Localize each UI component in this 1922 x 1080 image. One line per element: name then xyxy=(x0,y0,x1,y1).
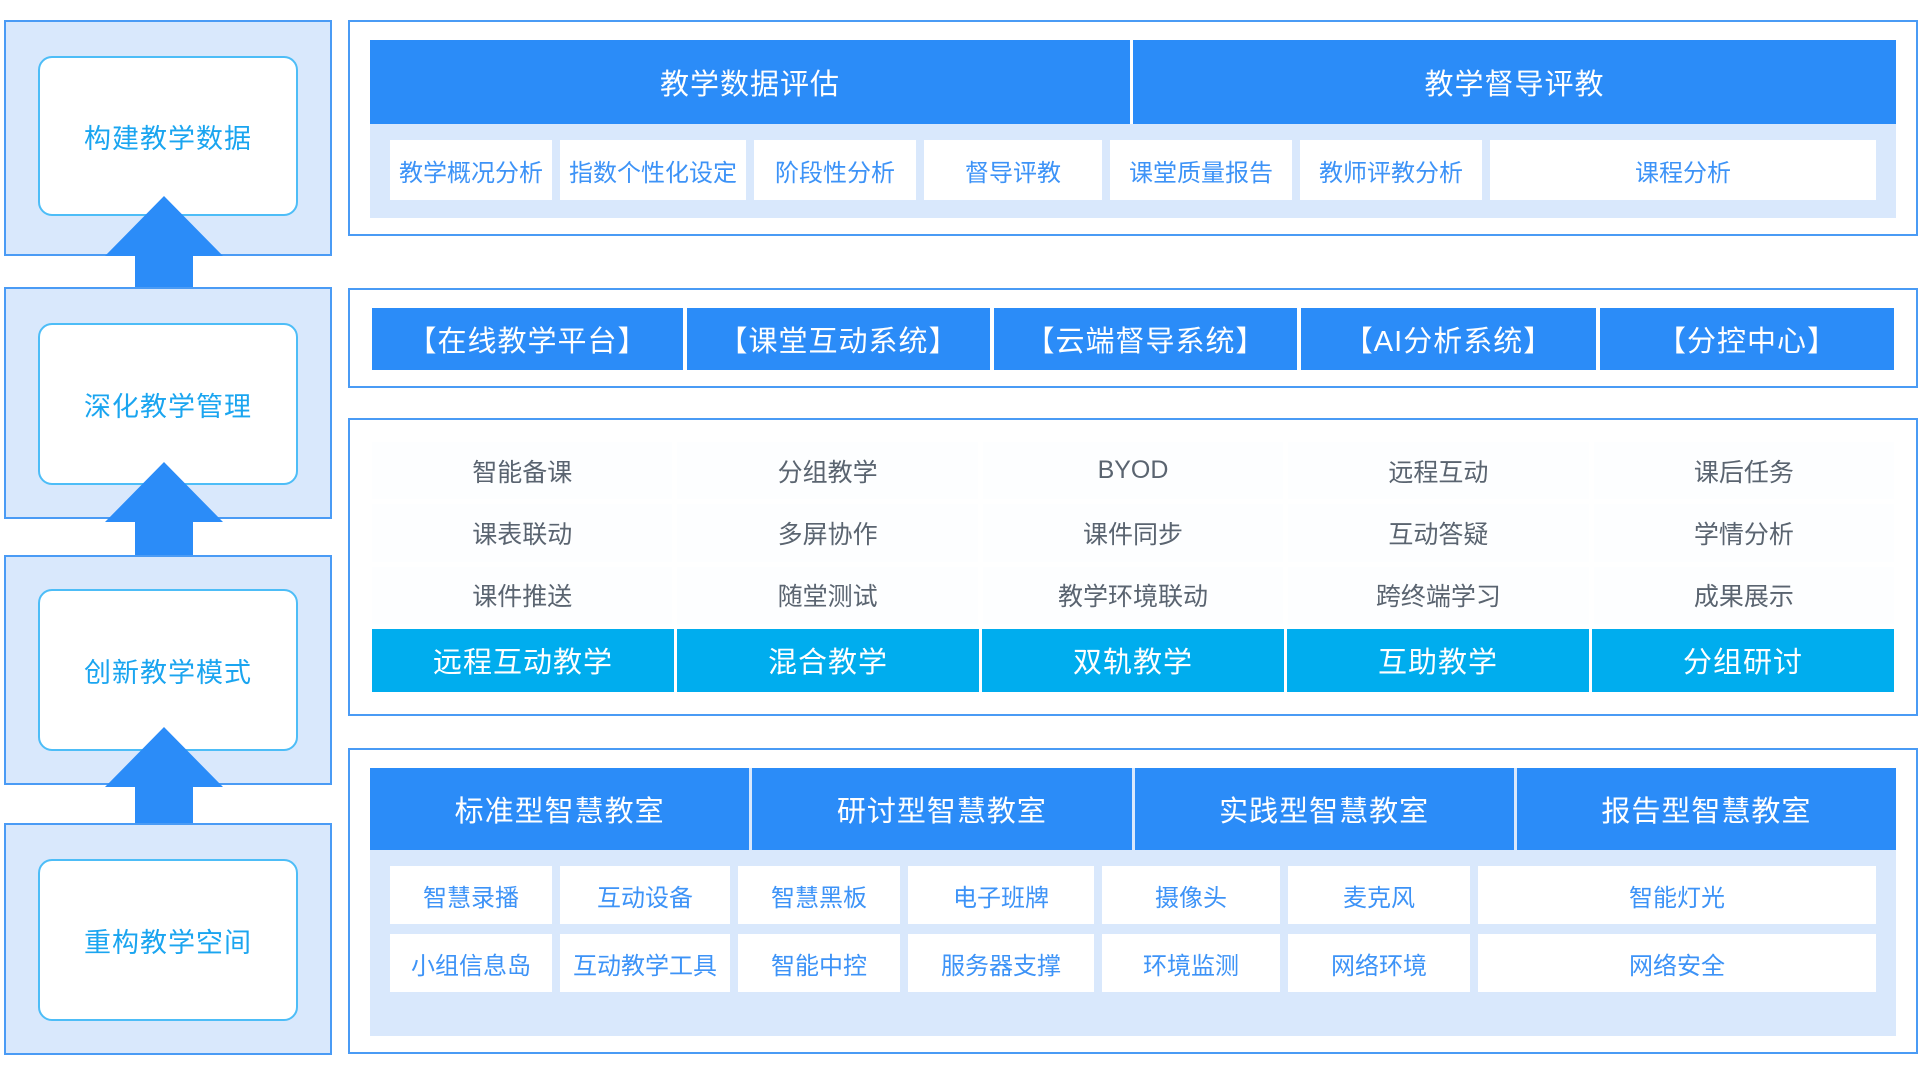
teaching-modes-grid: 智能备课 分组教学 BYOD 远程互动 课后任务 课表联动 多屏协作 课件同步 … xyxy=(372,442,1894,692)
equipment-cell[interactable]: 环境监测 xyxy=(1102,934,1280,992)
panel-inner-smart-classrooms: 标准型智慧教室 研讨型智慧教室 实践型智慧教室 报告型智慧教室 智慧录播 互动设… xyxy=(370,768,1896,1036)
mode-cell[interactable]: 课后任务 xyxy=(1594,442,1894,499)
mode-cell[interactable]: 远程互动 xyxy=(1288,442,1588,499)
system-control-center[interactable]: 【分控中心】 xyxy=(1600,308,1894,370)
cell-gap xyxy=(1280,934,1288,992)
mode-cell[interactable]: 学情分析 xyxy=(1594,504,1894,561)
equipment-cell[interactable]: 智慧录播 xyxy=(390,866,552,924)
cell-gap xyxy=(552,866,560,924)
system-online-teaching-platform[interactable]: 【在线教学平台】 xyxy=(372,308,683,370)
mode-cell[interactable]: BYOD xyxy=(983,442,1283,499)
cell-gap xyxy=(1292,140,1300,200)
data-evaluation-header-row: 教学数据评估 教学督导评教 xyxy=(370,40,1896,124)
cell-gap xyxy=(900,866,908,924)
mode-cell[interactable]: 互动答疑 xyxy=(1288,504,1588,561)
panel-systems: 【在线教学平台】 【课堂互动系统】 【云端督导系统】 【AI分析系统】 【分控中… xyxy=(348,288,1918,388)
mode-cell[interactable]: 课件推送 xyxy=(372,567,672,624)
panel-teaching-modes: 智能备课 分组教学 BYOD 远程互动 课后任务 课表联动 多屏协作 课件同步 … xyxy=(348,418,1918,716)
table-row: 课表联动 多屏协作 课件同步 互动答疑 学情分析 xyxy=(372,504,1894,561)
cell-gap xyxy=(730,934,738,992)
mode-cell[interactable]: 教学环境联动 xyxy=(983,567,1283,624)
equipment-cell[interactable]: 服务器支撑 xyxy=(908,934,1094,992)
table-row: 智能备课 分组教学 BYOD 远程互动 课后任务 xyxy=(372,442,1894,499)
equipment-cell[interactable]: 智慧黑板 xyxy=(738,866,900,924)
mode-highlight-cell[interactable]: 双轨教学 xyxy=(982,629,1284,692)
item-supervision-teaching[interactable]: 督导评教 xyxy=(924,140,1102,200)
item-teacher-eval-analysis[interactable]: 教师评教分析 xyxy=(1300,140,1482,200)
system-cloud-supervision[interactable]: 【云端督导系统】 xyxy=(994,308,1297,370)
mode-cell[interactable]: 课件同步 xyxy=(983,504,1283,561)
stage-box-2[interactable]: 深化教学管理 xyxy=(38,323,298,485)
mode-cell[interactable]: 智能备课 xyxy=(372,442,672,499)
header-data-evaluation[interactable]: 教学数据评估 xyxy=(370,40,1130,124)
equipment-cell[interactable]: 小组信息岛 xyxy=(390,934,552,992)
mode-cell[interactable]: 跨终端学习 xyxy=(1288,567,1588,624)
cell-gap xyxy=(1094,934,1102,992)
mode-cell[interactable]: 成果展示 xyxy=(1594,567,1894,624)
cell-gap xyxy=(1470,866,1478,924)
cell-gap xyxy=(900,934,908,992)
panel-data-evaluation: 教学数据评估 教学督导评教 教学概况分析 指数个性化设定 阶段性分析 督导评教 … xyxy=(348,20,1918,236)
classroom-equipment-row-1: 智慧录播 互动设备 智慧黑板 电子班牌 摄像头 麦克风 智能灯光 xyxy=(370,866,1896,924)
item-phase-analysis[interactable]: 阶段性分析 xyxy=(754,140,916,200)
item-teaching-overview[interactable]: 教学概况分析 xyxy=(390,140,552,200)
mode-highlight-cell[interactable]: 混合教学 xyxy=(677,629,979,692)
equipment-cell[interactable]: 互动教学工具 xyxy=(560,934,730,992)
classroom-lecture[interactable]: 报告型智慧教室 xyxy=(1517,768,1896,850)
cell-gap xyxy=(730,866,738,924)
panel-smart-classrooms: 标准型智慧教室 研讨型智慧教室 实践型智慧教室 报告型智慧教室 智慧录播 互动设… xyxy=(348,748,1918,1054)
mode-highlight-cell[interactable]: 分组研讨 xyxy=(1592,629,1894,692)
cell-gap xyxy=(1102,140,1110,200)
equipment-cell[interactable]: 智能中控 xyxy=(738,934,900,992)
systems-bar: 【在线教学平台】 【课堂互动系统】 【云端督导系统】 【AI分析系统】 【分控中… xyxy=(372,308,1894,370)
classroom-equipment-row-2: 小组信息岛 互动教学工具 智能中控 服务器支撑 环境监测 网络环境 网络安全 xyxy=(370,934,1896,992)
equipment-cell[interactable]: 智能灯光 xyxy=(1478,866,1876,924)
cell-gap xyxy=(552,140,560,200)
table-row: 课件推送 随堂测试 教学环境联动 跨终端学习 成果展示 xyxy=(372,567,1894,624)
diagram-root: 构建教学数据 深化教学管理 创新教学模式 重构教学空间 教学数据评估 xyxy=(0,0,1922,1080)
stage-panel-4: 重构教学空间 xyxy=(4,823,332,1055)
mode-highlight-cell[interactable]: 互助教学 xyxy=(1287,629,1589,692)
cell-gap xyxy=(1280,866,1288,924)
mode-highlight-cell[interactable]: 远程互动教学 xyxy=(372,629,674,692)
classroom-seminar[interactable]: 研讨型智慧教室 xyxy=(752,768,1131,850)
content-column: 教学数据评估 教学督导评教 教学概况分析 指数个性化设定 阶段性分析 督导评教 … xyxy=(348,0,1922,1080)
mode-cell[interactable]: 分组教学 xyxy=(677,442,977,499)
equipment-cell[interactable]: 摄像头 xyxy=(1102,866,1280,924)
header-supervision-evaluation[interactable]: 教学督导评教 xyxy=(1133,40,1896,124)
cell-gap xyxy=(552,934,560,992)
stage-box-1[interactable]: 构建教学数据 xyxy=(38,56,298,216)
cell-gap xyxy=(1482,140,1490,200)
classroom-practice[interactable]: 实践型智慧教室 xyxy=(1135,768,1514,850)
item-class-quality-report[interactable]: 课堂质量报告 xyxy=(1110,140,1292,200)
equipment-cell[interactable]: 麦克风 xyxy=(1288,866,1470,924)
system-classroom-interaction[interactable]: 【课堂互动系统】 xyxy=(687,308,990,370)
stage-box-4[interactable]: 重构教学空间 xyxy=(38,859,298,1021)
panel-inner-data-evaluation: 教学数据评估 教学督导评教 教学概况分析 指数个性化设定 阶段性分析 督导评教 … xyxy=(370,40,1896,218)
item-index-customization[interactable]: 指数个性化设定 xyxy=(560,140,746,200)
item-course-analysis[interactable]: 课程分析 xyxy=(1490,140,1876,200)
equipment-cell[interactable]: 网络环境 xyxy=(1288,934,1470,992)
system-ai-analysis[interactable]: 【AI分析系统】 xyxy=(1301,308,1596,370)
cell-gap xyxy=(916,140,924,200)
equipment-cell[interactable]: 互动设备 xyxy=(560,866,730,924)
classroom-standard[interactable]: 标准型智慧教室 xyxy=(370,768,749,850)
mode-cell[interactable]: 多屏协作 xyxy=(677,504,977,561)
classroom-header-row: 标准型智慧教室 研讨型智慧教室 实践型智慧教室 报告型智慧教室 xyxy=(370,768,1896,850)
cell-gap xyxy=(1470,934,1478,992)
mode-cell[interactable]: 课表联动 xyxy=(372,504,672,561)
equipment-cell[interactable]: 网络安全 xyxy=(1478,934,1876,992)
data-evaluation-item-row: 教学概况分析 指数个性化设定 阶段性分析 督导评教 课堂质量报告 教师评教分析 … xyxy=(370,140,1896,200)
mode-cell[interactable]: 随堂测试 xyxy=(677,567,977,624)
table-row-highlight: 远程互动教学 混合教学 双轨教学 互助教学 分组研讨 xyxy=(372,629,1894,692)
cell-gap xyxy=(746,140,754,200)
cell-gap xyxy=(1094,866,1102,924)
equipment-cell[interactable]: 电子班牌 xyxy=(908,866,1094,924)
stage-column: 构建教学数据 深化教学管理 创新教学模式 重构教学空间 xyxy=(0,0,336,1080)
